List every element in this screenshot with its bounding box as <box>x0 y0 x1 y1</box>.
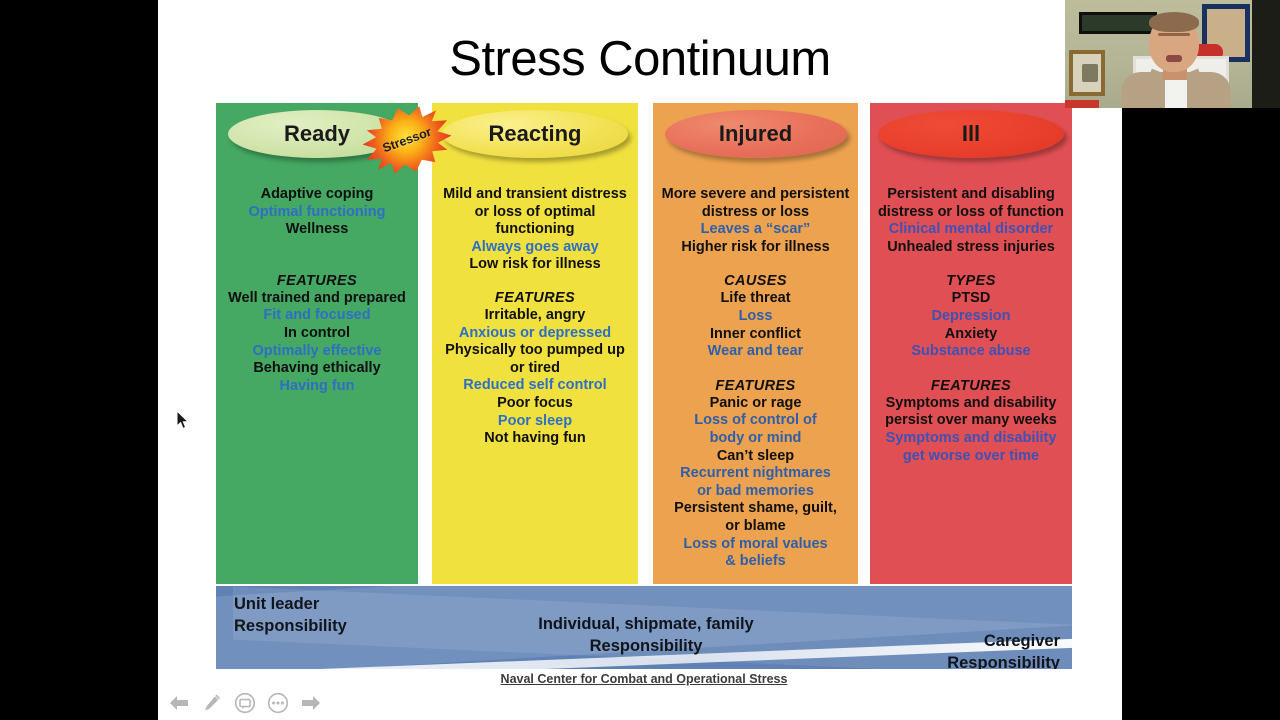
source-attribution: Naval Center for Combat and Operational … <box>216 672 1072 686</box>
continuum-columns: Ready Adaptive coping Optimal functionin… <box>216 103 1072 584</box>
list-item: or blame <box>659 518 852 536</box>
presenter-mouth <box>1166 55 1182 62</box>
picture-frame-panoramic <box>1079 12 1157 34</box>
ill-summary: Persistent and disabling distress or los… <box>876 186 1066 256</box>
list-item: Persistent and disabling <box>876 186 1066 204</box>
column-reacting: Reacting Mild and transient distress or … <box>432 103 638 584</box>
list-item: Substance abuse <box>876 343 1066 361</box>
list-item: Optimally effective <box>222 343 412 361</box>
column-reacting-header: Reacting <box>432 103 638 166</box>
list-item: Mild and transient distress <box>438 186 632 204</box>
ill-types: TYPES PTSD Depression Anxiety Substance … <box>876 273 1066 360</box>
picture-frame-small <box>1069 50 1105 96</box>
list-item: Having fun <box>222 378 412 396</box>
band-caregiver: Caregiver Responsibility <box>860 630 1060 669</box>
list-item: Irritable, angry <box>438 307 632 325</box>
list-item: Higher risk for illness <box>659 239 852 257</box>
video-red-accent <box>1065 100 1099 108</box>
list-item: Adaptive coping <box>222 186 412 204</box>
column-injured-body: More severe and persistent distress or l… <box>653 186 858 571</box>
column-ill: Ill Persistent and disabling distress or… <box>870 103 1072 584</box>
list-item: Behaving ethically <box>222 360 412 378</box>
list-item: & beliefs <box>659 553 852 571</box>
list-item: Well trained and prepared <box>222 290 412 308</box>
list-item: Optimal functioning <box>222 204 412 222</box>
list-item: Depression <box>876 308 1066 326</box>
list-item: Unhealed stress injuries <box>876 239 1066 257</box>
list-item: Poor sleep <box>438 413 632 431</box>
ellipsis-icon[interactable] <box>266 691 290 715</box>
list-item: Anxious or depressed <box>438 325 632 343</box>
list-item: Clinical mental disorder <box>876 221 1066 239</box>
band-individual: Individual, shipmate, family Responsibil… <box>466 613 826 657</box>
column-injured-label: Injured <box>665 110 847 158</box>
list-item: Loss <box>659 308 852 326</box>
left-arrow-icon[interactable] <box>167 691 191 715</box>
list-item: body or mind <box>659 430 852 448</box>
mouse-cursor <box>176 410 190 430</box>
section-header: CAUSES <box>659 273 852 289</box>
presenter-brow <box>1158 33 1190 36</box>
list-item: distress or loss <box>659 204 852 222</box>
band-caregiver-line2: Responsibility <box>860 652 1060 669</box>
list-item: Poor focus <box>438 395 632 413</box>
list-item: or tired <box>438 360 632 378</box>
list-item: get worse over time <box>876 448 1066 466</box>
presenter-video-overlay[interactable] <box>1065 0 1280 108</box>
list-item: Inner conflict <box>659 326 852 344</box>
reacting-features: FEATURES Irritable, angry Anxious or dep… <box>438 290 632 448</box>
list-item: PTSD <box>876 290 1066 308</box>
list-item: Persistent shame, guilt, <box>659 500 852 518</box>
list-item: Wear and tear <box>659 343 852 361</box>
stress-continuum-graphic: Ready Adaptive coping Optimal functionin… <box>216 103 1072 675</box>
list-item: Recurrent nightmares <box>659 465 852 483</box>
list-item: Not having fun <box>438 430 632 448</box>
band-individual-line2: Responsibility <box>466 635 826 657</box>
right-arrow-icon[interactable] <box>299 691 323 715</box>
video-edge-shadow <box>1252 0 1280 108</box>
band-individual-line1: Individual, shipmate, family <box>466 613 826 635</box>
column-ill-header: Ill <box>870 103 1072 166</box>
column-reacting-body: Mild and transient distress or loss of o… <box>432 186 638 448</box>
list-item: or bad memories <box>659 483 852 501</box>
list-item: Reduced self control <box>438 377 632 395</box>
list-item: Loss of control of <box>659 412 852 430</box>
responsibility-band: Unit leader Responsibility Individual, s… <box>216 586 1072 669</box>
presenter-hair <box>1149 12 1199 32</box>
band-unit-leader: Unit leader Responsibility <box>234 593 434 637</box>
ill-features: FEATURES Symptoms and disability persist… <box>876 378 1066 465</box>
reacting-summary: Mild and transient distress or loss of o… <box>438 186 632 274</box>
comment-icon[interactable] <box>233 691 257 715</box>
list-item: or loss of optimal functioning <box>438 204 632 239</box>
column-reacting-label: Reacting <box>442 110 628 158</box>
column-ill-label: Ill <box>878 110 1064 158</box>
section-header: FEATURES <box>438 290 632 306</box>
list-item: Fit and focused <box>222 307 412 325</box>
screen: Stress Continuum Ready Adaptive coping O… <box>0 0 1280 720</box>
list-item: Symptoms and disability <box>876 395 1066 413</box>
presentation-slide: Stress Continuum Ready Adaptive coping O… <box>158 0 1122 686</box>
list-item: Life threat <box>659 290 852 308</box>
list-item: Low risk for illness <box>438 256 632 274</box>
pencil-icon[interactable] <box>200 691 224 715</box>
list-item: Panic or rage <box>659 395 852 413</box>
list-item: Wellness <box>222 221 412 239</box>
column-injured: Injured More severe and persistent distr… <box>653 103 858 584</box>
column-ill-body: Persistent and disabling distress or los… <box>870 186 1072 465</box>
column-injured-header: Injured <box>653 103 858 166</box>
injured-causes: CAUSES Life threat Loss Inner conflict W… <box>659 273 852 360</box>
ready-summary: Adaptive coping Optimal functioning Well… <box>222 186 412 239</box>
list-item: Physically too pumped up <box>438 342 632 360</box>
list-item: Symptoms and disability <box>876 430 1066 448</box>
list-item: persist over many weeks <box>876 412 1066 430</box>
list-item: Can’t sleep <box>659 448 852 466</box>
band-caregiver-line1: Caregiver <box>860 630 1060 652</box>
band-unit-leader-line2: Responsibility <box>234 615 434 637</box>
list-item: More severe and persistent <box>659 186 852 204</box>
band-unit-leader-line1: Unit leader <box>234 593 434 615</box>
section-header: FEATURES <box>659 378 852 394</box>
ready-features: FEATURES Well trained and prepared Fit a… <box>222 273 412 396</box>
list-item: Always goes away <box>438 239 632 257</box>
list-item: Anxiety <box>876 326 1066 344</box>
page-title: Stress Continuum <box>158 34 1122 85</box>
slide-toolbar <box>158 686 1122 720</box>
list-item: Loss of moral values <box>659 536 852 554</box>
column-ready-body: Adaptive coping Optimal functioning Well… <box>216 186 418 395</box>
section-header: FEATURES <box>876 378 1066 394</box>
list-item: distress or loss of function <box>876 204 1066 222</box>
list-item: In control <box>222 325 412 343</box>
section-header: FEATURES <box>222 273 412 289</box>
injured-features: FEATURES Panic or rage Loss of control o… <box>659 378 852 571</box>
section-header: TYPES <box>876 273 1066 289</box>
list-item: Leaves a “scar” <box>659 221 852 239</box>
injured-summary: More severe and persistent distress or l… <box>659 186 852 256</box>
